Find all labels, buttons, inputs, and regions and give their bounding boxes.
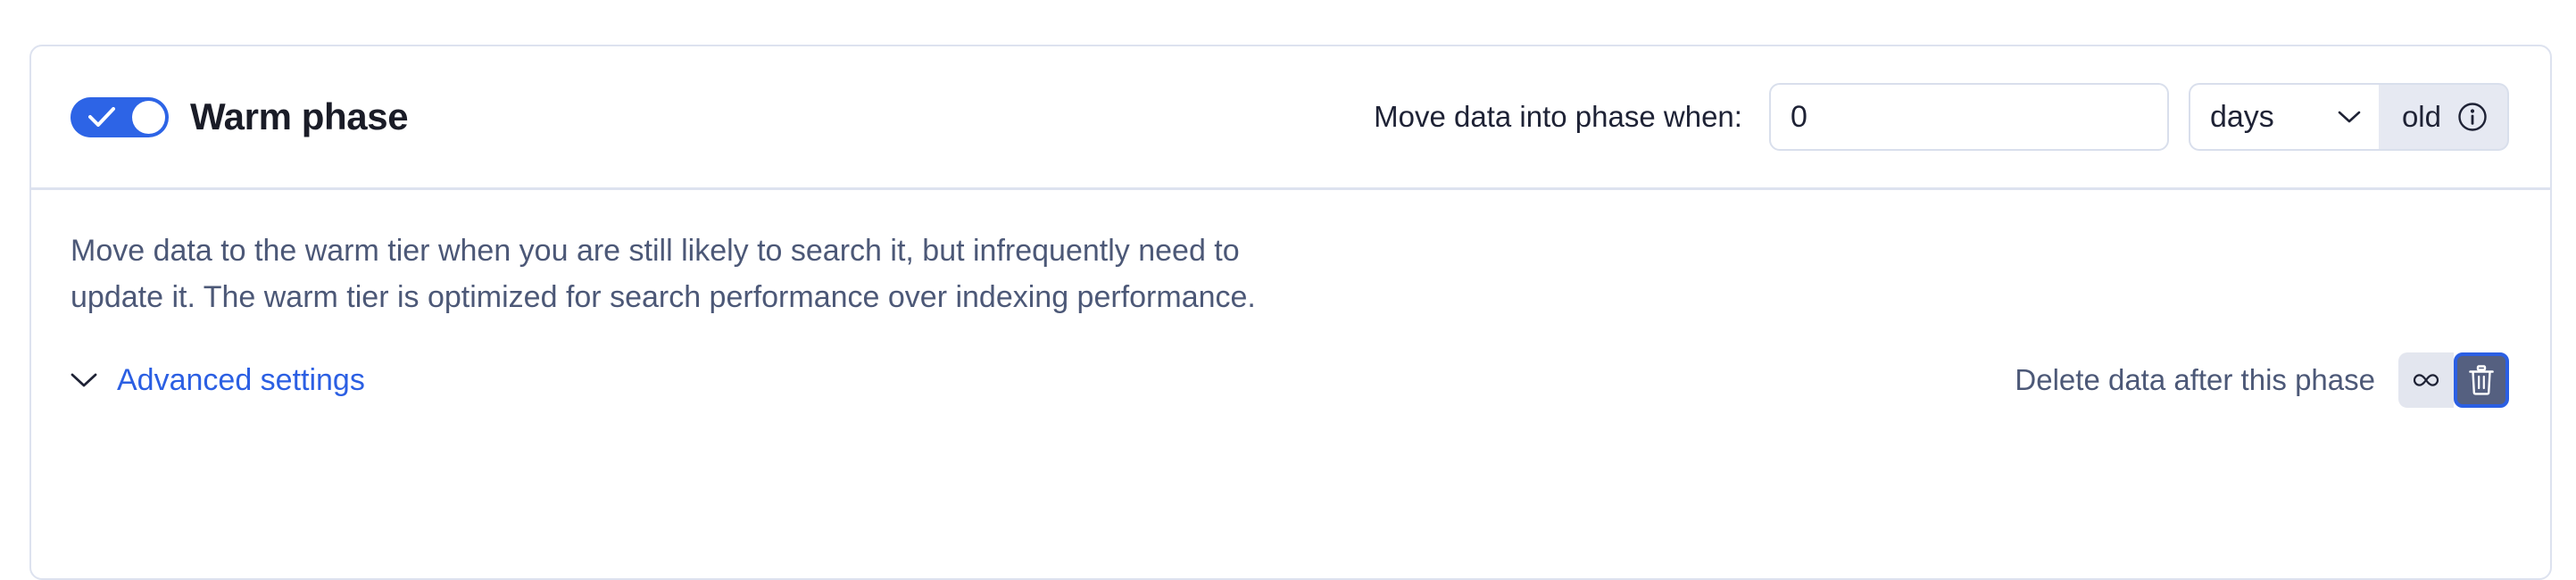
chevron-down-icon bbox=[2338, 110, 2361, 124]
delete-data-group: Delete data after this phase bbox=[2015, 352, 2509, 408]
unit-append-old: old bbox=[2379, 83, 2509, 151]
phase-body: Move data to the warm tier when you are … bbox=[31, 190, 2550, 578]
info-circle-icon[interactable] bbox=[2457, 102, 2488, 132]
phase-header: Warm phase Move data into phase when: da… bbox=[31, 46, 2550, 190]
check-icon bbox=[88, 107, 115, 127]
min-age-input[interactable] bbox=[1769, 83, 2169, 151]
append-old-label: old bbox=[2402, 100, 2441, 134]
toggle-knob bbox=[132, 101, 165, 134]
unit-append-group: days old bbox=[2189, 83, 2509, 151]
min-age-units-value: days bbox=[2210, 100, 2274, 135]
page-title: Warm phase bbox=[190, 95, 408, 138]
min-age-units-select[interactable]: days bbox=[2189, 83, 2379, 151]
advanced-settings-label: Advanced settings bbox=[117, 363, 365, 398]
delete-data-label: Delete data after this phase bbox=[2015, 363, 2375, 397]
warm-phase-card: Warm phase Move data into phase when: da… bbox=[29, 45, 2552, 580]
chevron-down-icon bbox=[71, 372, 97, 388]
phase-header-right: Move data into phase when: days old bbox=[1374, 83, 2509, 151]
trash-icon bbox=[2468, 365, 2495, 395]
phase-header-left: Warm phase bbox=[71, 95, 408, 138]
screen-root: Warm phase Move data into phase when: da… bbox=[0, 0, 2576, 530]
phase-description: Move data to the warm tier when you are … bbox=[71, 228, 1302, 320]
delete-data-button[interactable] bbox=[2454, 352, 2509, 408]
phase-body-footer: Advanced settings Delete data after this… bbox=[71, 352, 2509, 408]
warm-phase-toggle[interactable] bbox=[71, 97, 169, 137]
advanced-settings-toggle[interactable]: Advanced settings bbox=[71, 363, 365, 398]
delete-data-button-group bbox=[2398, 352, 2509, 408]
infinity-icon bbox=[2410, 370, 2442, 390]
move-data-label: Move data into phase when: bbox=[1374, 100, 1742, 134]
keep-forever-button[interactable] bbox=[2398, 352, 2454, 408]
